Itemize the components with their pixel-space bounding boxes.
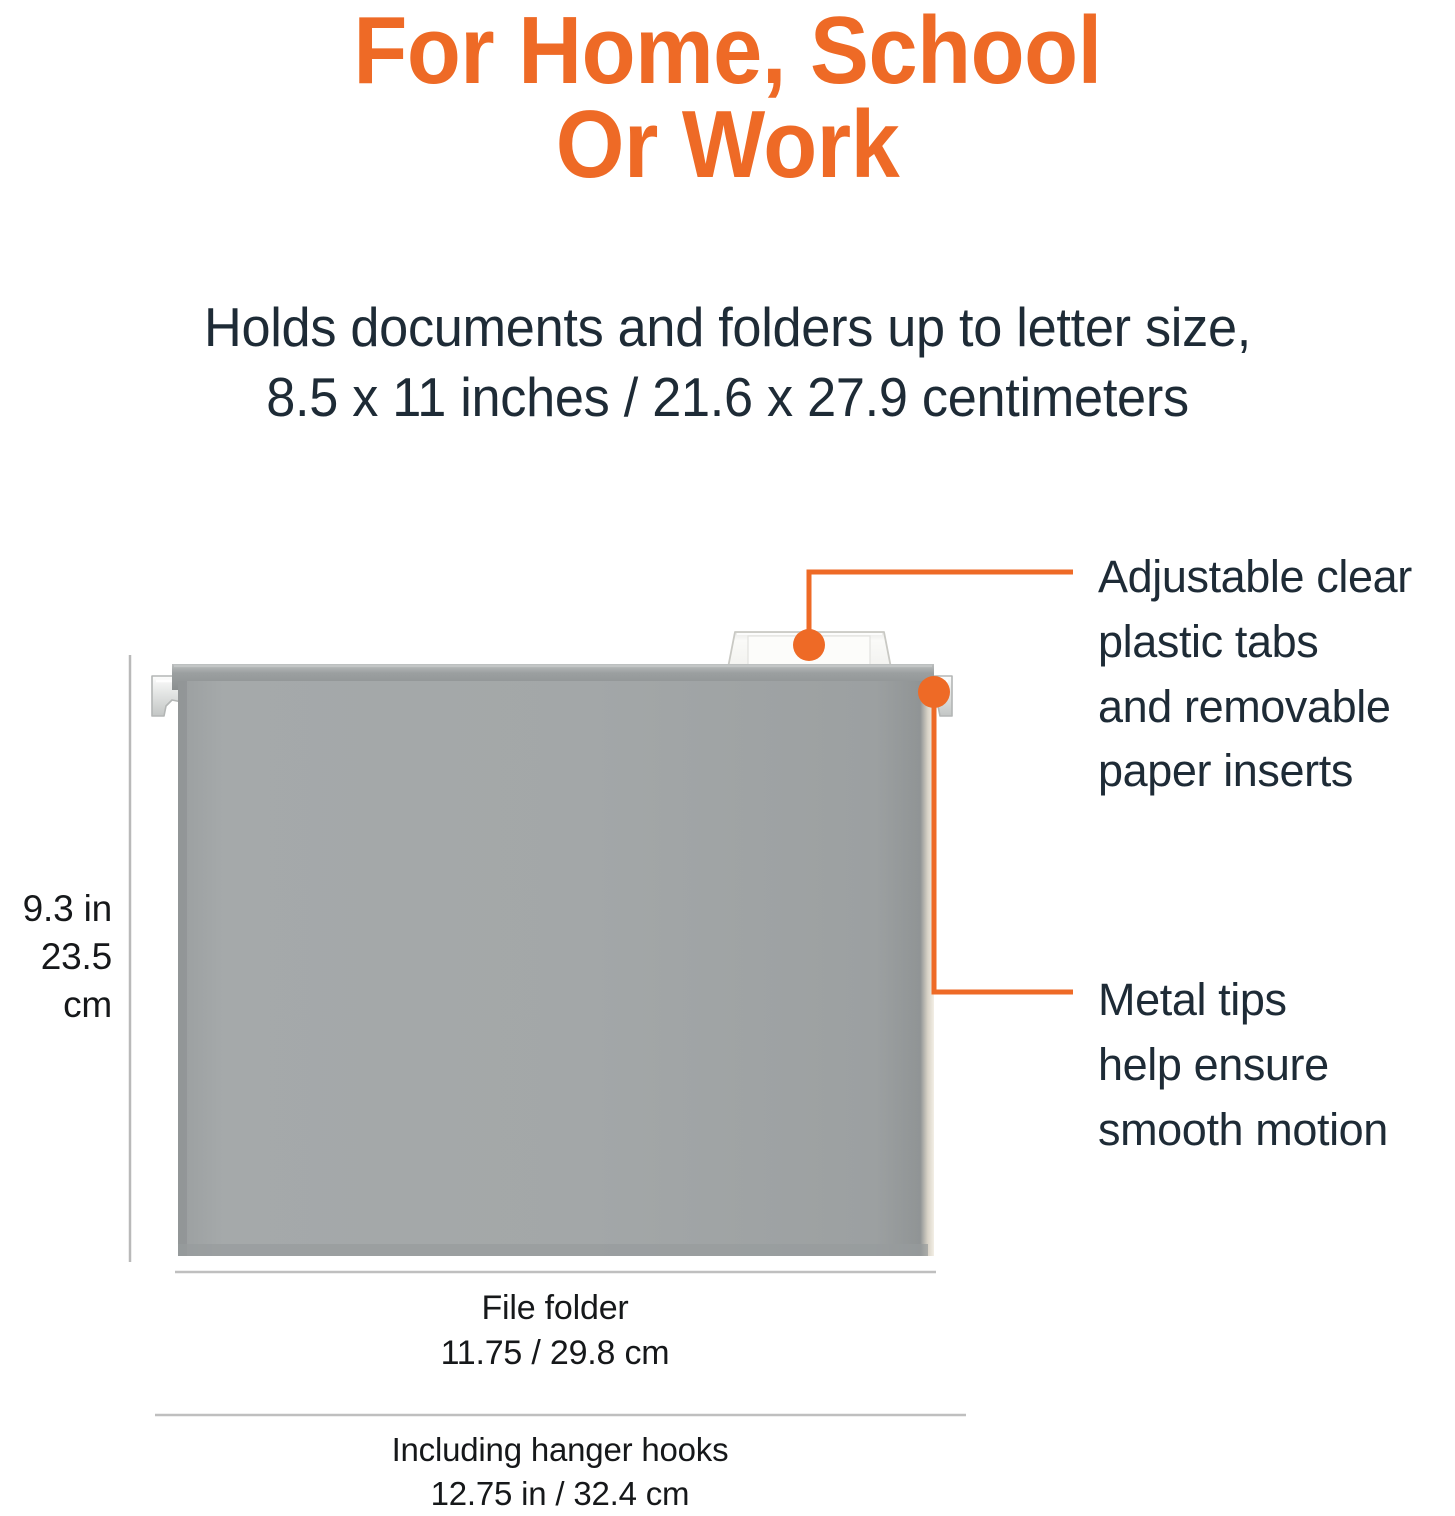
callout-dot-adjustable-tabs [793, 629, 825, 661]
folder-left-fold [178, 681, 187, 1256]
dimension-label-folder-width: File folder 11.75 / 29.8 cm [175, 1286, 935, 1376]
paper-insert [748, 636, 870, 680]
dimension-label-hooks-width: Including hanger hooks 12.75 in / 32.4 c… [155, 1428, 965, 1516]
folder-body [178, 681, 928, 1256]
page-subtitle: Holds documents and folders up to letter… [36, 292, 1418, 433]
callout-leader-metal-tips [918, 676, 1073, 992]
page-headline: For Home, School Or Work [58, 4, 1397, 192]
folder-bottom-shade [178, 1244, 928, 1256]
callout-label-adjustable-tabs: Adjustable clear plastic tabs and remova… [1098, 545, 1455, 804]
folder-top-rail [172, 664, 934, 690]
folder-right-edge [920, 683, 934, 1256]
callout-label-metal-tips: Metal tips help ensure smooth motion [1098, 968, 1455, 1162]
clear-plastic-tab [726, 632, 893, 680]
metal-hook-right [905, 676, 952, 716]
callout-leader-adjustable-tabs [793, 572, 1073, 661]
callout-dot-metal-tips [918, 676, 950, 708]
metal-hook-left [152, 676, 200, 716]
dimension-label-height: 9.3 in 23.5 cm [0, 885, 112, 1029]
